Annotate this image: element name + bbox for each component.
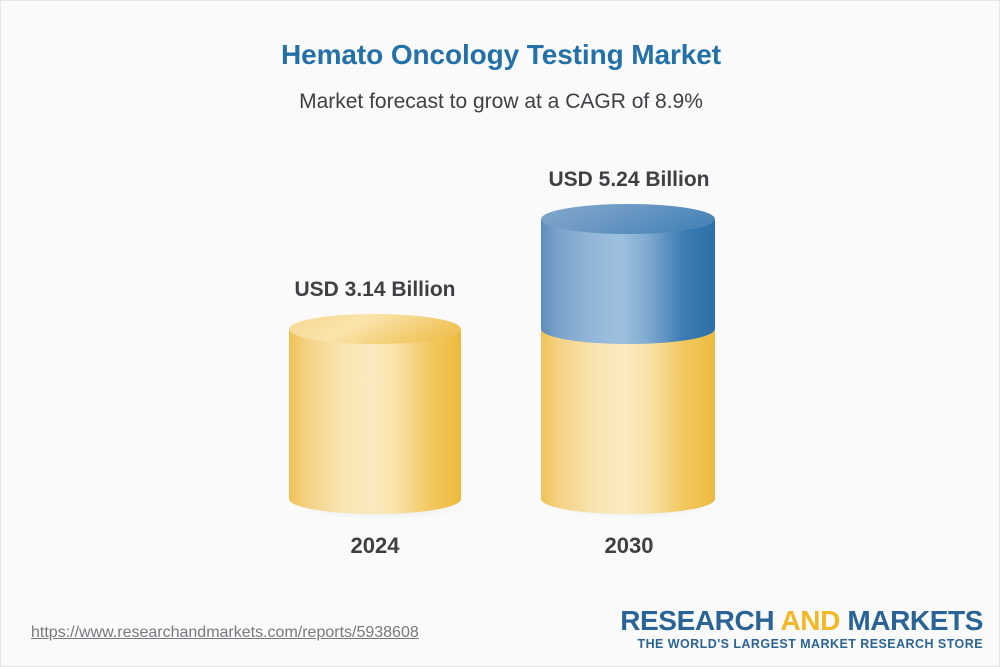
bar-cylinder-2024-svg <box>287 313 467 523</box>
chart-canvas: Hemato Oncology Testing Market Market fo… <box>0 0 1000 667</box>
logo-tagline: THE WORLD'S LARGEST MARKET RESEARCH STOR… <box>620 637 983 651</box>
plot-area: USD 3.14 Billion USD 5.24 Billion 2024 2… <box>1 1 1000 601</box>
value-label-2030: USD 5.24 Billion <box>493 168 765 192</box>
category-label-2030: 2030 <box>493 533 765 559</box>
bar-cylinder-2030 <box>539 203 721 523</box>
bar-cylinder-2030-svg <box>539 203 721 523</box>
category-label-2024: 2024 <box>239 533 511 559</box>
research-and-markets-logo[interactable]: RESEARCH AND MARKETS THE WORLD'S LARGEST… <box>620 606 983 651</box>
logo-wordmark: RESEARCH AND MARKETS <box>620 606 983 635</box>
logo-and-text: AND <box>780 605 839 636</box>
value-label-2024: USD 3.14 Billion <box>239 278 511 302</box>
logo-research-text: RESEARCH <box>620 605 774 636</box>
logo-markets-text: MARKETS <box>847 605 983 636</box>
bar-cylinder-2024 <box>287 313 467 523</box>
footer: https://www.researchandmarkets.com/repor… <box>1 600 1000 666</box>
report-url-link[interactable]: https://www.researchandmarkets.com/repor… <box>31 624 419 642</box>
